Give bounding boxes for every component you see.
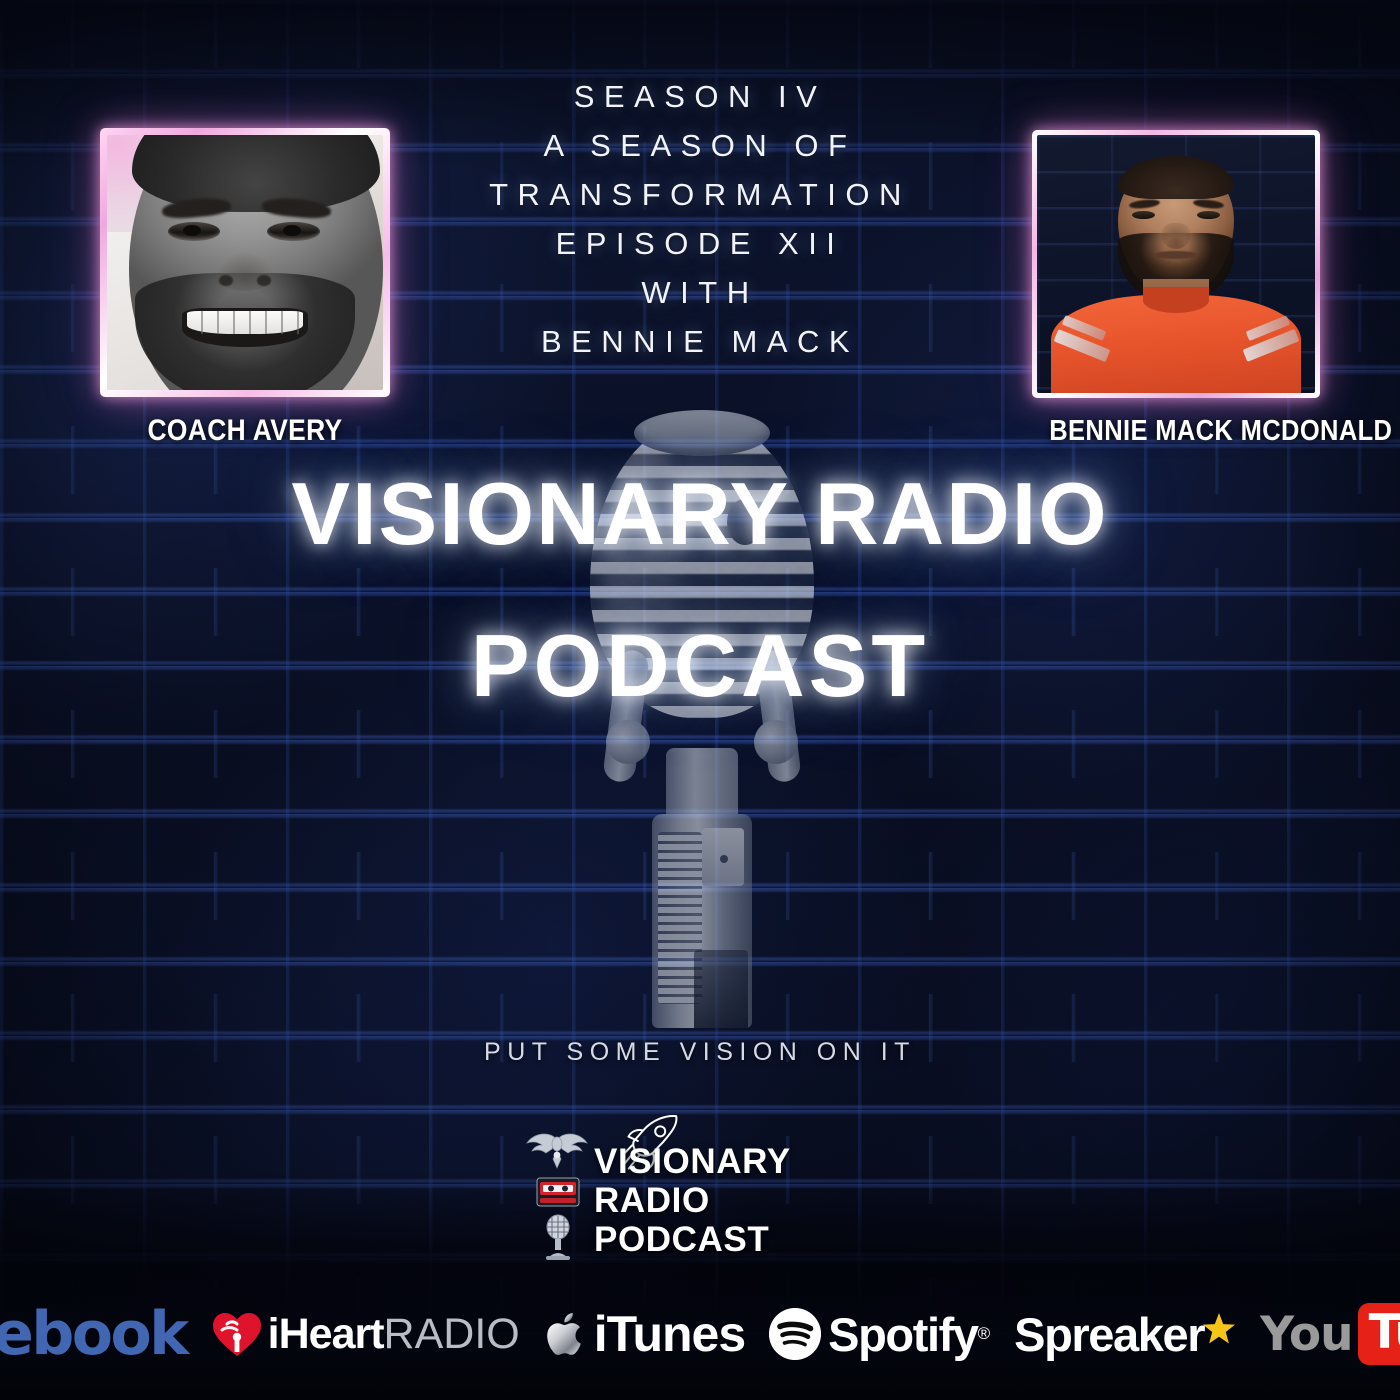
spreaker-star-icon [1202,1312,1236,1346]
tagline: PUT SOME VISION ON IT [0,1038,1400,1067]
platform-itunes[interactable]: iTunes [544,1305,745,1363]
host-photo-bennie-mack [1037,135,1315,393]
hair-shape [132,135,380,212]
brand-wordmark: VISIONARY RADIO PODCAST [594,1142,791,1259]
microphone-emblem-icon [542,1214,574,1260]
vintage-microphone-graphic [582,418,822,1028]
teeth-shape [187,311,304,333]
host-photo-frame-right [1032,130,1320,398]
eye-left [168,222,220,241]
microphone-neck [666,748,738,822]
microphone-highlight [603,430,679,688]
spotify-wordmark: Spotify [828,1307,977,1362]
cassette-tape-emblem-icon [536,1176,580,1208]
brand-emblem-stack [526,1132,588,1260]
host-name-bennie-mack: BENNIE MACK MCDONALD [1049,415,1302,448]
youtube-wordmark-you: You [1260,1307,1352,1362]
platform-facebook[interactable]: facebook [0,1304,187,1364]
platform-youtube[interactable]: You Tube [1260,1303,1400,1365]
platform-iheartradio[interactable]: iHeart RADIO [211,1310,520,1359]
host-photo-coach-avery [107,135,383,390]
brand-line-podcast: PODCAST [594,1220,791,1259]
episode-line-season: SEASON IV [0,72,1400,121]
platform-spotify[interactable]: Spotify ® [769,1307,990,1362]
spreaker-wordmark: Spreaker [1014,1307,1204,1362]
microphone-pivot-right [754,720,798,764]
itunes-wordmark: iTunes [594,1305,745,1363]
microphone-pivot-left [606,720,650,764]
microphone-capsule-dot [727,499,763,545]
spotify-registered-mark: ® [978,1324,991,1344]
host-card-coach-avery[interactable]: COACH AVERY [100,128,390,448]
host-card-bennie-mack[interactable]: BENNIE MACK MCDONALD [1032,130,1320,448]
host-name-coach-avery: COACH AVERY [117,414,372,448]
mouth-shape [1154,251,1198,259]
youtube-red-box: Tube [1358,1303,1400,1365]
eye-right [267,222,319,241]
host-photo-frame-left [100,128,390,397]
brand-lockup: VISIONARY RADIO PODCAST [520,1118,880,1268]
facebook-wordmark: facebook [0,1304,187,1364]
microphone-body-plate [702,828,744,886]
spotify-icon [769,1308,821,1360]
podcast-cover-art: SEASON IV A SEASON OF TRANSFORMATION EPI… [0,0,1400,1400]
eagle-emblem-icon [526,1132,588,1170]
brand-line-visionary: VISIONARY [594,1142,791,1181]
microphone-body-shadow [694,950,748,1028]
platform-spreaker[interactable]: Spreaker [1014,1307,1236,1362]
apple-icon [544,1308,588,1360]
microphone-top-cap [634,410,770,456]
microphone-body [652,814,752,1028]
iheartradio-suffix: RADIO [384,1310,520,1359]
iheartradio-heart-icon [211,1310,263,1358]
youtube-wordmark-tube: Tube [1369,1305,1400,1360]
shirt-collar [1143,287,1210,313]
platform-logo-strip: facebook iHeart RADIO [0,1282,1400,1400]
brand-line-radio: RADIO [594,1181,791,1220]
mouth-shape [182,308,309,346]
iheart-wordmark: iHeart [268,1310,384,1359]
